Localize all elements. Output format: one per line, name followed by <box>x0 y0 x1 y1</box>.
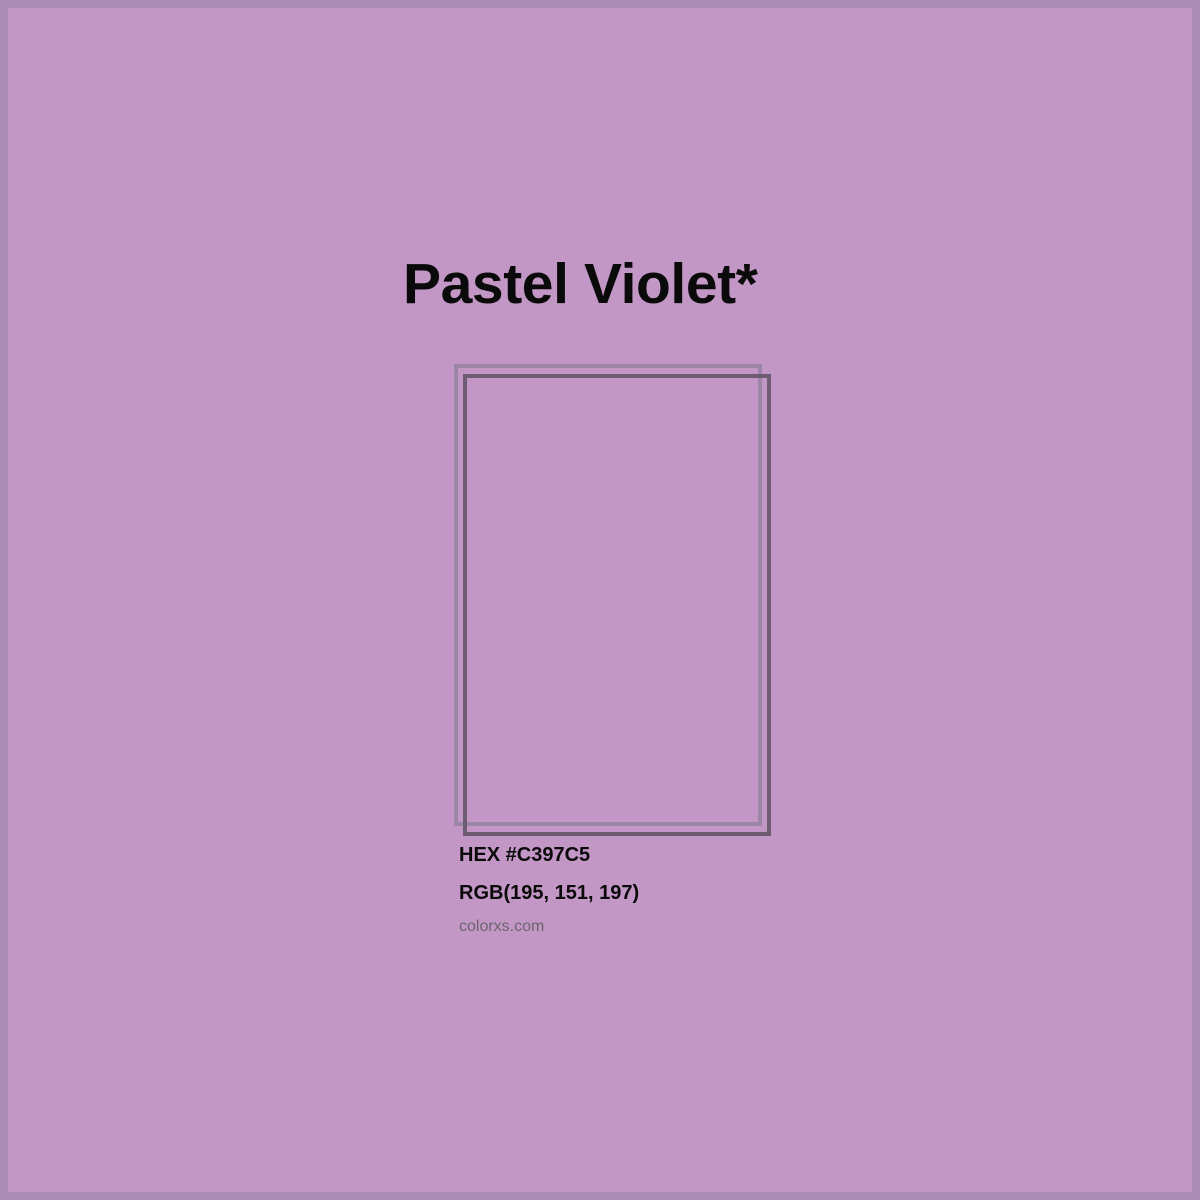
site-credit: colorxs.com <box>459 916 544 938</box>
swatch-outline-front <box>463 374 771 836</box>
color-swatch <box>448 358 778 838</box>
color-card-page: Pastel Violet* HEX #C397C5 RGB(195, 151,… <box>0 0 1200 1200</box>
rgb-value: RGB(195, 151, 197) <box>459 879 959 908</box>
color-values: HEX #C397C5 RGB(195, 151, 197) <box>459 841 959 908</box>
hex-value: HEX #C397C5 <box>459 841 959 870</box>
page-title: Pastel Violet* <box>403 253 758 316</box>
